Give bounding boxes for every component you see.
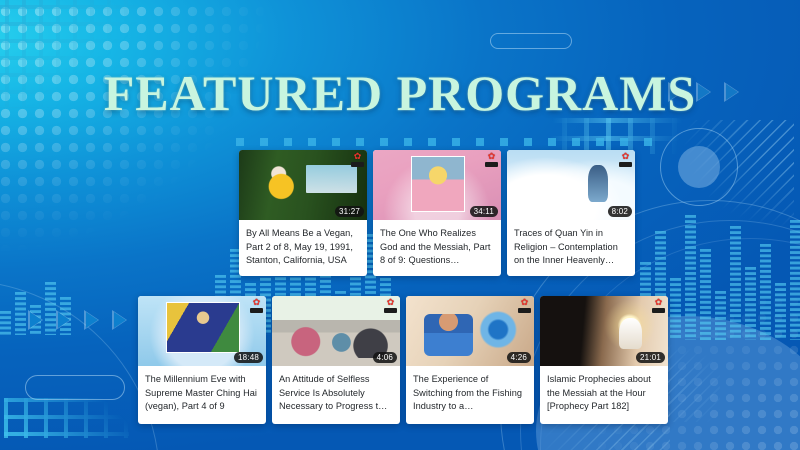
featured-row-top: ✿31:27By All Means Be a Vegan, Part 2 of… <box>239 150 635 276</box>
program-thumbnail[interactable]: ✿8:02 <box>507 150 635 220</box>
channel-logo-icon: ✿ <box>518 298 531 313</box>
equalizer-bar <box>700 249 711 340</box>
equalizer-bar <box>670 278 681 340</box>
equalizer-bar <box>685 215 696 340</box>
program-card-title: The Millennium Eve with Supreme Master C… <box>138 366 266 424</box>
program-card-title: The Experience of Switching from the Fis… <box>406 366 534 424</box>
equalizer-bar <box>790 220 800 340</box>
program-card[interactable]: ✿34:11The One Who Realizes God and the M… <box>373 150 501 276</box>
channel-logo-icon: ✿ <box>384 298 397 313</box>
duration-badge: 31:27 <box>335 206 364 217</box>
duration-badge: 4:06 <box>373 352 397 363</box>
program-thumbnail[interactable]: ✿4:06 <box>272 296 400 366</box>
tick-marks-top-right <box>540 118 690 154</box>
channel-logo-icon: ✿ <box>619 152 632 167</box>
duration-badge: 4:26 <box>507 352 531 363</box>
dash-row-above-cards <box>236 138 656 146</box>
square-dots-bottom-left <box>4 398 129 438</box>
channel-logo-icon: ✿ <box>250 298 263 313</box>
page-title: FEATURED PROGRAMS <box>0 64 800 122</box>
pill-outline-top <box>490 33 572 49</box>
program-thumbnail[interactable]: ✿34:11 <box>373 150 501 220</box>
duration-badge: 18:48 <box>234 352 263 363</box>
play-triangle-icon <box>56 310 71 330</box>
channel-logo-icon: ✿ <box>351 152 364 167</box>
equalizer-bar <box>15 292 26 335</box>
equalizer-bars-far-left <box>0 255 71 335</box>
equalizer-bar <box>45 282 56 335</box>
program-card-title: The One Who Realizes God and the Messiah… <box>373 220 501 276</box>
equalizer-bar <box>30 305 41 335</box>
circle-fill-icon <box>678 146 720 188</box>
program-card[interactable]: ✿8:02Traces of Quan Yin in Religion – Co… <box>507 150 635 276</box>
featured-programs-screen: FEATURED PROGRAMS ✿31:27By All Means Be … <box>0 0 800 450</box>
duration-badge: 21:01 <box>636 352 665 363</box>
pill-outline-bottom-left <box>25 375 125 400</box>
equalizer-bar <box>745 267 756 340</box>
equalizer-bar <box>60 297 71 335</box>
program-card-title: Traces of Quan Yin in Religion – Contemp… <box>507 220 635 276</box>
program-card[interactable]: ✿21:01Islamic Prophecies about the Messi… <box>540 296 668 424</box>
duration-badge: 8:02 <box>608 206 632 217</box>
equalizer-bar <box>0 311 11 335</box>
duration-badge: 34:11 <box>470 206 498 217</box>
equalizer-bar <box>760 244 771 340</box>
arc-decor-left <box>0 280 160 450</box>
channel-logo-icon: ✿ <box>485 152 498 167</box>
program-card-title: By All Means Be a Vegan, Part 2 of 8, Ma… <box>239 220 367 276</box>
program-card[interactable]: ✿4:26The Experience of Switching from th… <box>406 296 534 424</box>
play-triangle-icon <box>112 310 127 330</box>
equalizer-bar <box>715 291 726 340</box>
circle-ring-icon <box>660 128 738 206</box>
program-thumbnail[interactable]: ✿4:26 <box>406 296 534 366</box>
program-card[interactable]: ✿4:06An Attitude of Selfless Service Is … <box>272 296 400 424</box>
featured-row-bottom: ✿18:48The Millennium Eve with Supreme Ma… <box>138 296 668 424</box>
program-card-title: Islamic Prophecies about the Messiah at … <box>540 366 668 424</box>
program-thumbnail[interactable]: ✿31:27 <box>239 150 367 220</box>
equalizer-bar <box>730 226 741 340</box>
program-thumbnail[interactable]: ✿21:01 <box>540 296 668 366</box>
equalizer-bar <box>775 283 786 340</box>
program-card[interactable]: ✿31:27By All Means Be a Vegan, Part 2 of… <box>239 150 367 276</box>
play-triangles-left <box>28 310 127 330</box>
program-thumbnail[interactable]: ✿18:48 <box>138 296 266 366</box>
program-card[interactable]: ✿18:48The Millennium Eve with Supreme Ma… <box>138 296 266 424</box>
program-card-title: An Attitude of Selfless Service Is Absol… <box>272 366 400 424</box>
channel-logo-icon: ✿ <box>652 298 665 313</box>
play-triangle-icon <box>84 310 99 330</box>
play-triangle-icon <box>28 310 43 330</box>
diagonal-hatch-right <box>629 120 794 240</box>
